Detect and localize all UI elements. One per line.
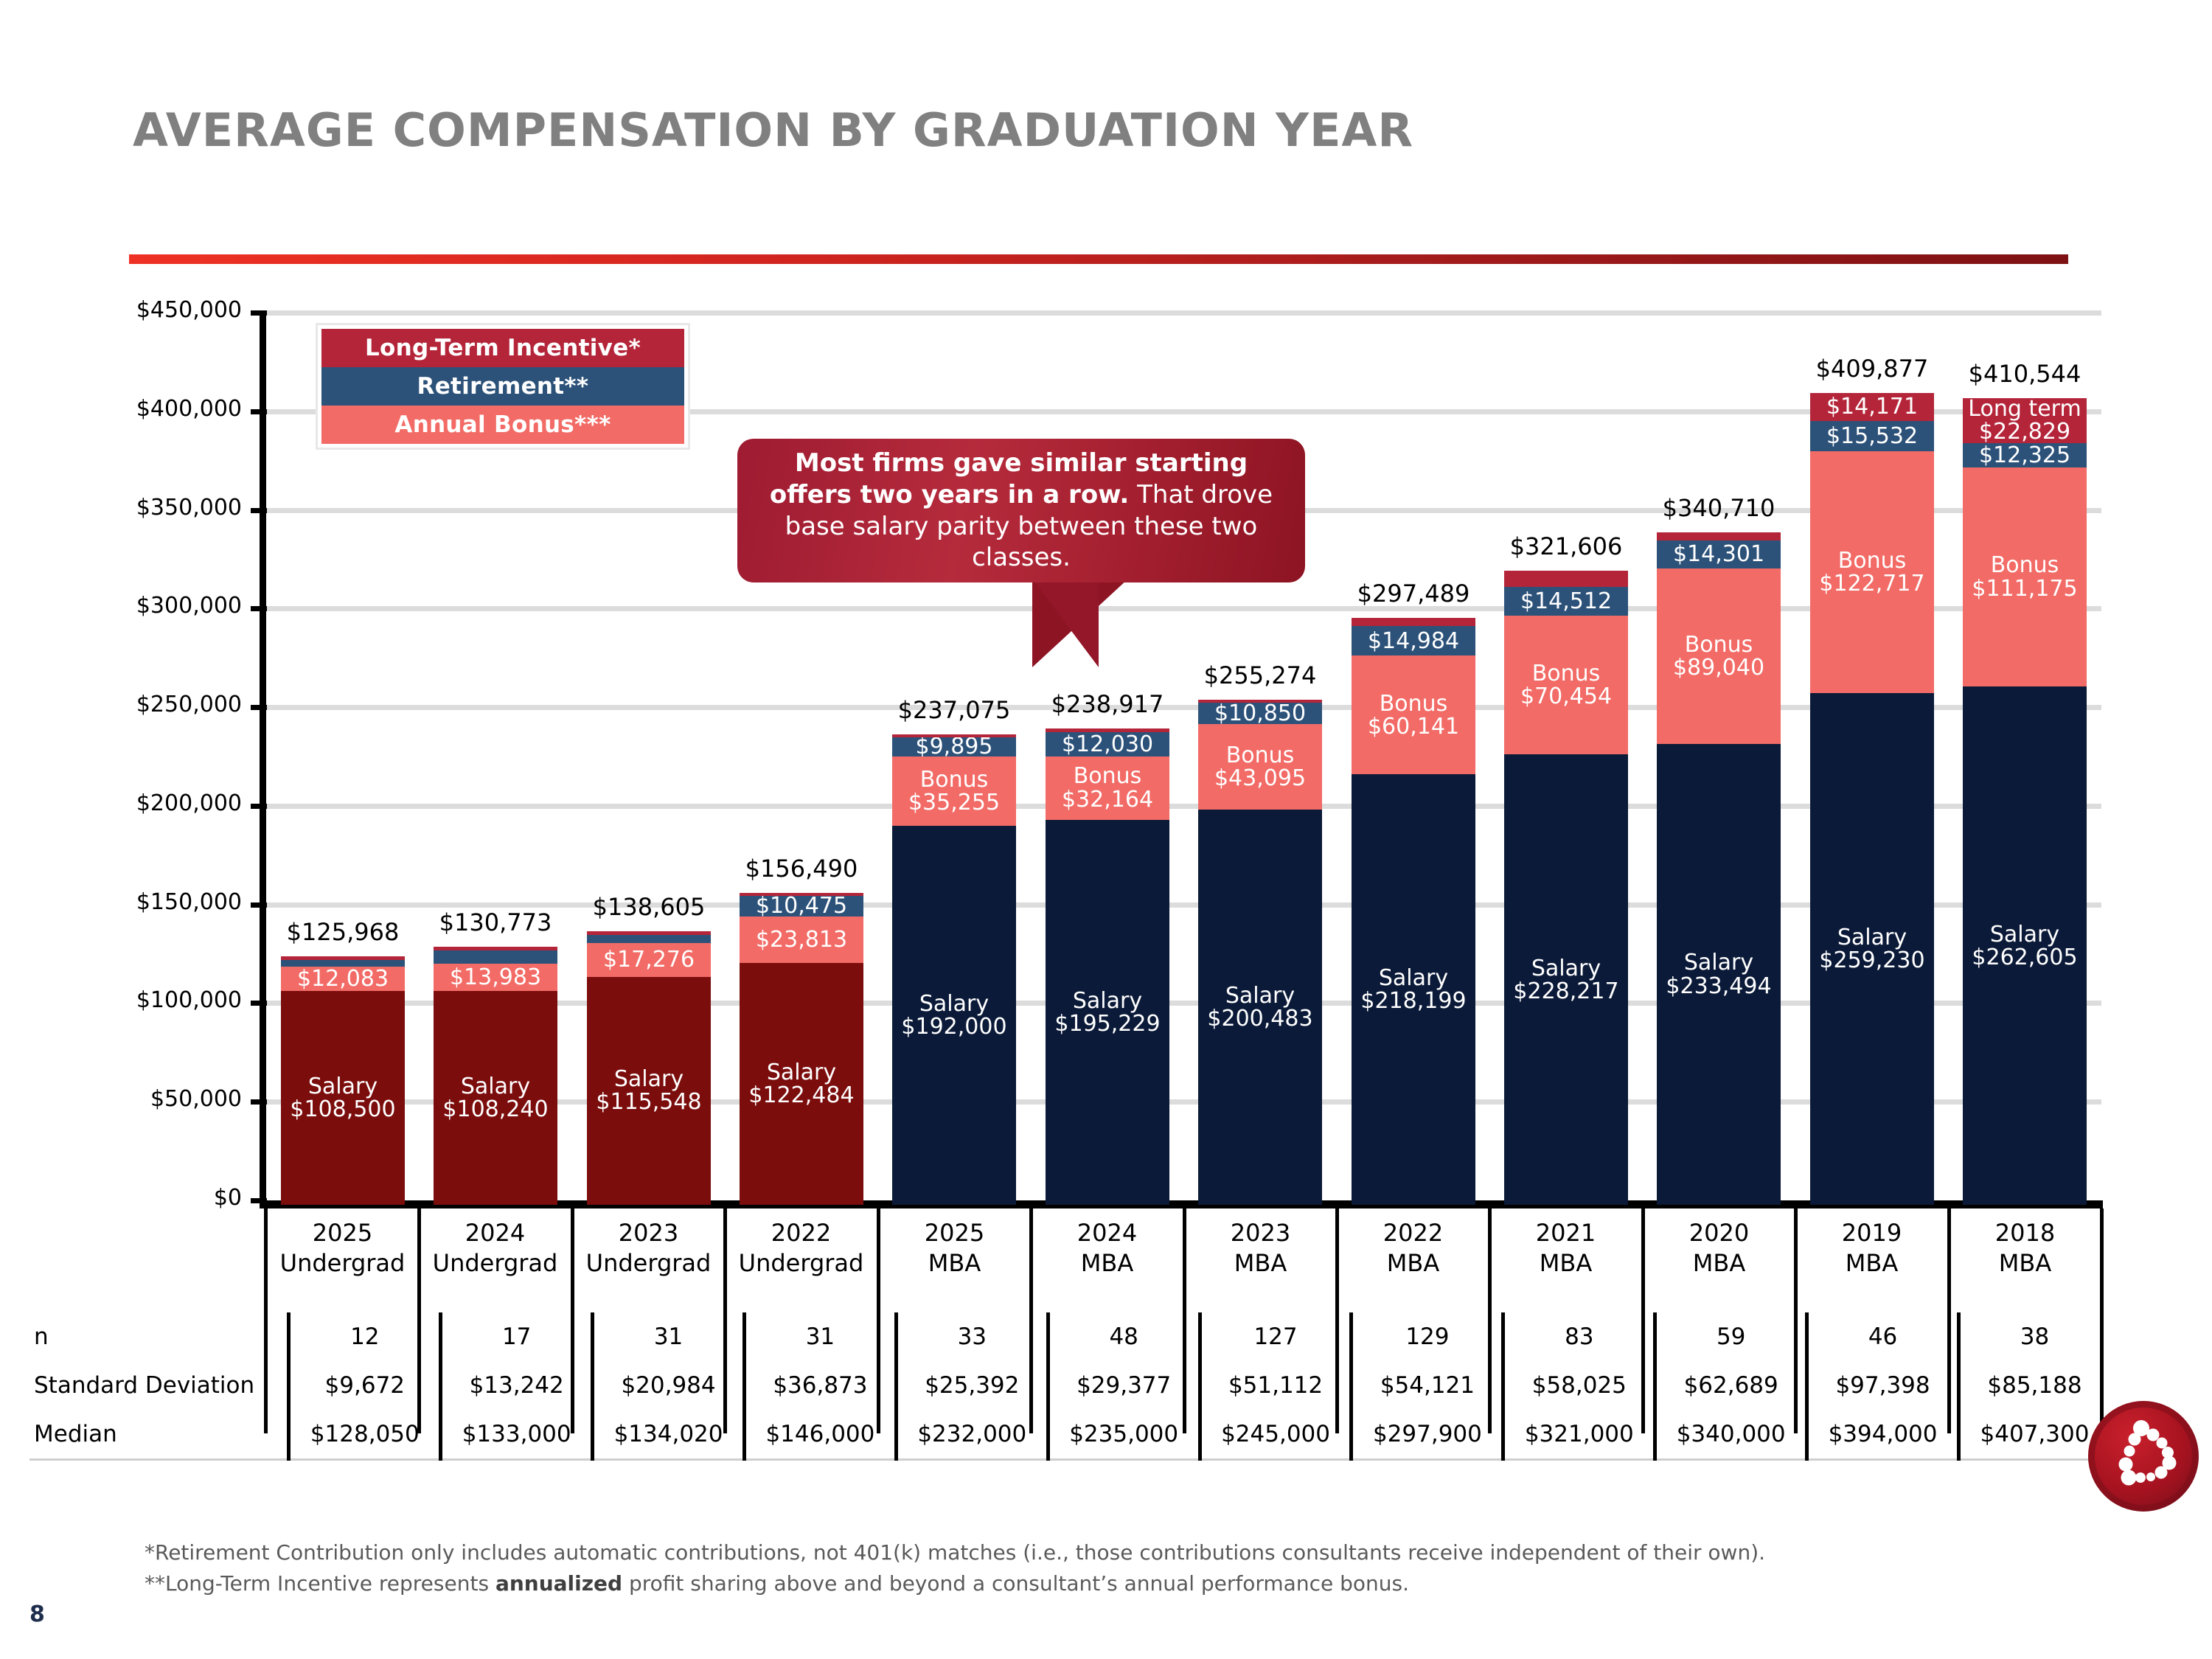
segment-annual-bonus: Bonus$89,040 [1657,568,1781,744]
table-cell: $25,392 [896,1361,1048,1410]
segment-retirement: $14,984 [1352,626,1475,655]
bar-2020-mba[interactable]: $14,301Bonus$89,040Salary$233,494 [1657,532,1781,1205]
chart-legend: Long-Term Incentive* Retirement** Annual… [316,323,690,450]
segment-annual-bonus: Bonus$111,175 [1963,467,2087,686]
y-axis-tick-label: $200,000 [136,790,242,816]
bar-total-label: $340,710 [1641,494,1797,522]
x-axis-label-2025-mba: 2025MBA [878,1218,1031,1279]
segment-label-line1: $12,083 [297,967,389,990]
table-cell: $235,000 [1048,1410,1200,1460]
segment-salary: Salary$108,500 [281,991,405,1205]
bar-2023-undergrad[interactable]: $17,276Salary$115,548 [587,931,711,1205]
table-cell: $133,000 [441,1410,593,1460]
x-axis-label-program: MBA [1949,1248,2101,1279]
segment-label-line1: Bonus [1532,662,1601,685]
segment-salary: Salary$233,494 [1657,744,1781,1205]
x-axis-label-program: MBA [878,1248,1031,1279]
segment-label-line1: $9,895 [916,737,993,757]
segment-retirement: $12,030 [1046,732,1169,756]
y-axis-tick-label: $100,000 [136,987,242,1013]
x-axis-label-year: 2020 [1643,1218,1795,1248]
segment-label-line2: $43,095 [1214,767,1306,790]
table-cell: $97,398 [1807,1361,1959,1410]
segment-label-line1: Salary [461,1075,530,1098]
table-cell: $62,689 [1655,1361,1807,1410]
x-axis-label-year: 2022 [725,1218,877,1248]
x-axis-label-2023-undergrad: 2023Undergrad [572,1218,725,1279]
bar-2025-undergrad[interactable]: $12,083Salary$108,500 [281,956,405,1205]
segment-salary: Salary$115,548 [587,977,711,1205]
y-axis-tick [251,1099,267,1105]
segment-label-line1: $23,813 [756,928,847,951]
x-axis-label-program: Undergrad [266,1248,419,1279]
segment-salary: Salary$108,240 [434,991,557,1205]
segment-annual-bonus: Bonus$122,717 [1810,451,1934,693]
segment-retirement [434,950,557,964]
footnote-lti-pre: **Long-Term Incentive represents [145,1571,495,1596]
table-row-header: Standard Deviation [29,1361,289,1410]
table-cell: $29,377 [1048,1361,1200,1410]
y-axis-tick [251,1198,267,1203]
segment-label-line2: $22,829 [1979,420,2070,443]
legend-item-long-term-incentive[interactable]: Long-Term Incentive* [321,329,684,367]
y-axis-tick-label: $350,000 [136,495,242,521]
segment-salary: Salary$218,199 [1352,774,1475,1205]
x-axis-label-year: 2025 [878,1218,1031,1248]
table-cell: 59 [1655,1312,1807,1361]
bar-total-label: $237,075 [876,696,1032,724]
y-axis-tick [251,409,267,414]
table-cell: $297,900 [1352,1410,1503,1460]
segment-label-line1: Salary [767,1061,836,1084]
segment-label-line2: $35,255 [908,791,1000,814]
x-axis-label-2024-mba: 2024MBA [1031,1218,1183,1279]
table-cell: 31 [593,1312,745,1361]
segment-label-line1: $10,850 [1214,703,1306,724]
segment-label-line1: Bonus [1074,765,1142,787]
legend-label-retirement: Retirement** [417,373,589,400]
bar-2023-mba[interactable]: $10,850Bonus$43,095Salary$200,483 [1198,700,1322,1205]
segment-annual-bonus: Bonus$32,164 [1046,757,1169,820]
segment-label-line2: $111,175 [1972,577,2077,600]
bar-total-label: $321,606 [1488,532,1644,560]
segment-label-line2: $32,164 [1062,788,1153,811]
callout-text: Most firms gave similar starting offers … [762,448,1280,574]
table-cell: $36,873 [744,1361,896,1410]
footnote-retirement: *Retirement Contribution only includes a… [145,1537,1765,1568]
logo-dots-icon [2088,1401,2199,1512]
segment-label-line2: $70,454 [1520,685,1612,708]
table-cell: 48 [1048,1312,1200,1361]
table-cell: 38 [1958,1312,2109,1361]
bar-2025-mba[interactable]: $9,895Bonus$35,255Salary$192,000 [892,734,1016,1205]
segment-label-line2: $200,483 [1207,1007,1312,1030]
segment-annual-bonus: Bonus$60,141 [1352,655,1475,774]
x-axis-label-2022-mba: 2022MBA [1337,1218,1489,1279]
table-cell: $51,112 [1200,1361,1352,1410]
table-cell: $232,000 [896,1410,1048,1460]
table-cell: 46 [1807,1312,1959,1361]
y-axis-tick [251,902,267,908]
segment-label-line1: Salary [1990,923,2059,946]
y-axis-line [260,313,266,1205]
segment-label-line1: Bonus [1991,554,2059,577]
x-axis-label-2025-undergrad: 2025Undergrad [266,1218,419,1279]
segment-label-line1: $17,276 [603,948,695,971]
segment-label-line2: $115,548 [596,1091,701,1113]
y-axis-tick-label: $300,000 [136,593,242,619]
x-axis-label-year: 2021 [1489,1218,1642,1248]
bar-total-label: $409,877 [1794,355,1950,383]
bar-total-label: $138,605 [571,893,727,921]
table-cell: 17 [441,1312,593,1361]
footnote-lti-post: profit sharing above and beyond a consul… [622,1571,1409,1596]
segment-long-term-incentive [1352,618,1475,626]
x-axis-label-program: MBA [1795,1248,1948,1279]
table-row: n12173131334812712983594638 [29,1312,2109,1361]
y-axis-tick [251,804,267,809]
segment-label-line1: Salary [1073,990,1142,1012]
segment-label-line1: Bonus [1380,692,1448,715]
segment-label-line1: Long term [1968,398,2081,421]
segment-label-line1: Salary [1225,984,1295,1007]
table-cell: 31 [744,1312,896,1361]
x-axis-label-2022-undergrad: 2022Undergrad [725,1218,877,1279]
bar-2024-mba[interactable]: $12,030Bonus$32,164Salary$195,229 [1046,728,1169,1205]
segment-label-line1: Salary [1837,926,1907,949]
bar-2021-mba[interactable]: $14,512Bonus$70,454Salary$228,217 [1504,571,1628,1205]
y-axis-tick-label: $150,000 [136,889,242,915]
x-axis-label-year: 2022 [1337,1218,1489,1248]
x-axis-label-2019-mba: 2019MBA [1795,1218,1948,1279]
segment-long-term-incentive: Long term$22,829 [1963,398,2087,443]
bar-2018-mba[interactable]: Long term$22,829$12,325Bonus$111,175Sala… [1963,398,2087,1205]
y-axis-tick-label: $50,000 [150,1086,242,1112]
x-axis-label-year: 2023 [572,1218,725,1248]
segment-label-line2: $262,605 [1972,946,2077,969]
legend-item-retirement[interactable]: Retirement** [321,367,684,406]
table-row: Standard Deviation$9,672$13,242$20,984$3… [29,1361,2109,1410]
segment-retirement: $10,475 [740,896,863,917]
legend-label-annual-bonus: Annual Bonus*** [394,411,611,438]
segment-salary: Salary$228,217 [1504,754,1628,1205]
table-cell: 83 [1503,1312,1655,1361]
segment-label-line2: $233,494 [1666,975,1771,998]
segment-label-line1: $12,030 [1062,733,1153,756]
table-cell: $321,000 [1503,1410,1655,1460]
y-axis-tick [251,1001,267,1006]
segment-label-line2: $122,484 [748,1084,854,1107]
segment-retirement: $14,301 [1657,540,1781,568]
segment-long-term-incentive: $14,171 [1810,393,1934,421]
segment-retirement: $12,325 [1963,443,2087,467]
bar-total-label: $410,544 [1947,360,2103,388]
x-axis-label-program: MBA [1184,1248,1337,1279]
segment-label-line1: $13,983 [450,966,541,989]
x-axis-label-2021-mba: 2021MBA [1489,1218,1642,1279]
segment-label-line2: $108,240 [442,1098,548,1121]
x-axis-label-program: Undergrad [572,1248,725,1279]
x-axis-label-year: 2023 [1184,1218,1337,1248]
segment-label-line2: $195,229 [1054,1012,1160,1035]
table-cell: $407,300 [1958,1410,2109,1460]
segment-retirement [587,935,711,943]
table-cell: 33 [896,1312,1048,1361]
table-cell: $134,020 [593,1410,745,1460]
x-axis-label-program: MBA [1643,1248,1795,1279]
table-cell: $245,000 [1200,1410,1352,1460]
table-row-header: n [29,1312,289,1361]
segment-label-line1: $14,171 [1826,395,1918,418]
segment-label-line1: Bonus [1226,744,1295,767]
segment-salary: Salary$262,605 [1963,686,2087,1205]
x-axis-label-year: 2024 [1031,1218,1183,1248]
segment-salary: Salary$195,229 [1046,820,1169,1205]
y-axis-tick-label: $450,000 [136,297,242,323]
segment-annual-bonus: Bonus$35,255 [892,757,1016,826]
bar-2022-undergrad[interactable]: $10,475$23,813Salary$122,484 [740,893,863,1205]
segment-retirement [281,960,405,967]
company-logo-icon [2088,1401,2199,1512]
segment-label-line2: $192,000 [901,1015,1006,1038]
footnote-long-term-incentive: **Long-Term Incentive represents annuali… [145,1568,1765,1599]
segment-annual-bonus: $12,083 [281,967,405,990]
table-row: Median$128,050$133,000$134,020$146,000$2… [29,1410,2109,1460]
gridline [265,310,2101,316]
table-cell: $340,000 [1655,1410,1807,1460]
segment-annual-bonus: $17,276 [587,943,711,977]
segment-long-term-incentive [1657,532,1781,540]
segment-label-line1: Salary [1531,957,1601,980]
bar-2022-mba[interactable]: $14,984Bonus$60,141Salary$218,199 [1352,618,1475,1205]
segment-label-line1: Salary [1379,967,1448,990]
x-axis-label-2020-mba: 2020MBA [1643,1218,1795,1279]
bar-total-label: $125,968 [265,918,421,946]
segment-label-line1: $15,532 [1826,425,1918,448]
bar-total-label: $238,917 [1029,690,1186,718]
segment-label-line1: Bonus [1685,633,1753,656]
x-axis-label-2018-mba: 2018MBA [1949,1218,2101,1279]
segment-label-line2: $259,230 [1819,949,1924,972]
legend-item-annual-bonus[interactable]: Annual Bonus*** [321,406,684,444]
table-cell: 129 [1352,1312,1503,1361]
table-cell: $13,242 [441,1361,593,1410]
x-axis-label-year: 2019 [1795,1218,1948,1248]
segment-annual-bonus: $23,813 [740,917,863,964]
legend-label-long-term-incentive: Long-Term Incentive* [365,335,641,361]
segment-label-line1: $12,325 [1979,444,2070,467]
table-cell: $54,121 [1352,1361,1503,1410]
footnotes: *Retirement Contribution only includes a… [145,1537,1765,1599]
segment-long-term-incentive [1504,571,1628,588]
callout-box: Most firms gave similar starting offers … [737,439,1305,582]
segment-retirement: $15,532 [1810,421,1934,452]
segment-annual-bonus: $13,983 [434,964,557,991]
table-cell: $20,984 [593,1361,745,1410]
segment-annual-bonus: Bonus$43,095 [1198,724,1322,809]
segment-salary: Salary$122,484 [740,963,863,1205]
segment-label-line1: $10,475 [756,896,847,917]
segment-label-line2: $228,217 [1513,980,1618,1003]
stats-table-element: n12173131334812712983594638Standard Devi… [29,1312,2109,1461]
y-axis-tick [251,310,267,316]
table-cell: 127 [1200,1312,1352,1361]
table-cell: $58,025 [1503,1361,1655,1410]
segment-label-line1: Bonus [920,768,989,791]
table-row-header: Median [29,1410,289,1460]
bar-total-label: $130,773 [417,908,574,936]
bar-total-label: $255,274 [1182,661,1338,689]
segment-label-line2: $108,500 [290,1098,395,1121]
x-axis-label-program: MBA [1489,1248,1642,1279]
segment-label-line1: Salary [614,1068,684,1091]
bar-total-label: $297,489 [1335,580,1492,608]
y-axis-tick-label: $400,000 [136,396,242,422]
segment-label-line2: $89,040 [1673,656,1764,679]
callout-tail [1032,579,1099,667]
segment-label-line1: $14,301 [1673,543,1764,566]
segment-label-line1: $14,984 [1368,630,1459,653]
segment-annual-bonus: Bonus$70,454 [1504,616,1628,755]
y-axis-tick [251,705,267,710]
y-axis-tick-label: $0 [214,1185,242,1211]
x-axis-label-year: 2025 [266,1218,419,1248]
table-cell: $9,672 [289,1361,441,1410]
segment-retirement: $9,895 [892,737,1016,757]
x-axis-label-program: MBA [1031,1248,1183,1279]
y-axis-tick [251,606,267,611]
table-cell: $146,000 [744,1410,896,1460]
y-axis-tick-label: $250,000 [136,692,242,717]
y-axis-tick [251,508,267,513]
segment-label-line1: Salary [308,1075,378,1098]
segment-label-line2: $122,717 [1819,572,1924,595]
x-axis-label-2023-mba: 2023MBA [1184,1218,1337,1279]
x-axis-label-year: 2018 [1949,1218,2101,1248]
x-axis-label-program: Undergrad [725,1248,877,1279]
table-cell: $85,188 [1958,1361,2109,1410]
bar-total-label: $156,490 [723,855,880,883]
segment-label-line1: Salary [919,992,989,1015]
x-axis-label-2024-undergrad: 2024Undergrad [419,1218,571,1279]
segment-label-line1: Salary [1684,951,1753,974]
segment-label-line2: $218,199 [1360,990,1466,1012]
segment-label-line1: $14,512 [1520,590,1612,613]
x-axis-label-program: Undergrad [419,1248,571,1279]
footnote-lti-bold: annualized [495,1571,622,1596]
segment-retirement: $14,512 [1504,587,1628,616]
segment-retirement: $10,850 [1198,703,1322,724]
bar-2019-mba[interactable]: $14,171$15,532Bonus$122,717Salary$259,23… [1810,393,1934,1205]
x-axis-label-program: MBA [1337,1248,1489,1279]
segment-salary: Salary$200,483 [1198,810,1322,1205]
segment-label-line1: Bonus [1838,549,1907,572]
bar-2024-undergrad[interactable]: $13,983Salary$108,240 [434,947,557,1205]
x-axis-label-year: 2024 [419,1218,571,1248]
statistics-table: n12173131334812712983594638Standard Devi… [29,1312,2109,1461]
segment-salary: Salary$259,230 [1810,693,1934,1205]
table-cell: $394,000 [1807,1410,1959,1460]
table-cell: 12 [289,1312,441,1361]
segment-salary: Salary$192,000 [892,826,1016,1205]
table-cell: $128,050 [289,1410,441,1460]
page-number: 8 [29,1601,45,1627]
segment-label-line2: $60,141 [1368,715,1459,738]
